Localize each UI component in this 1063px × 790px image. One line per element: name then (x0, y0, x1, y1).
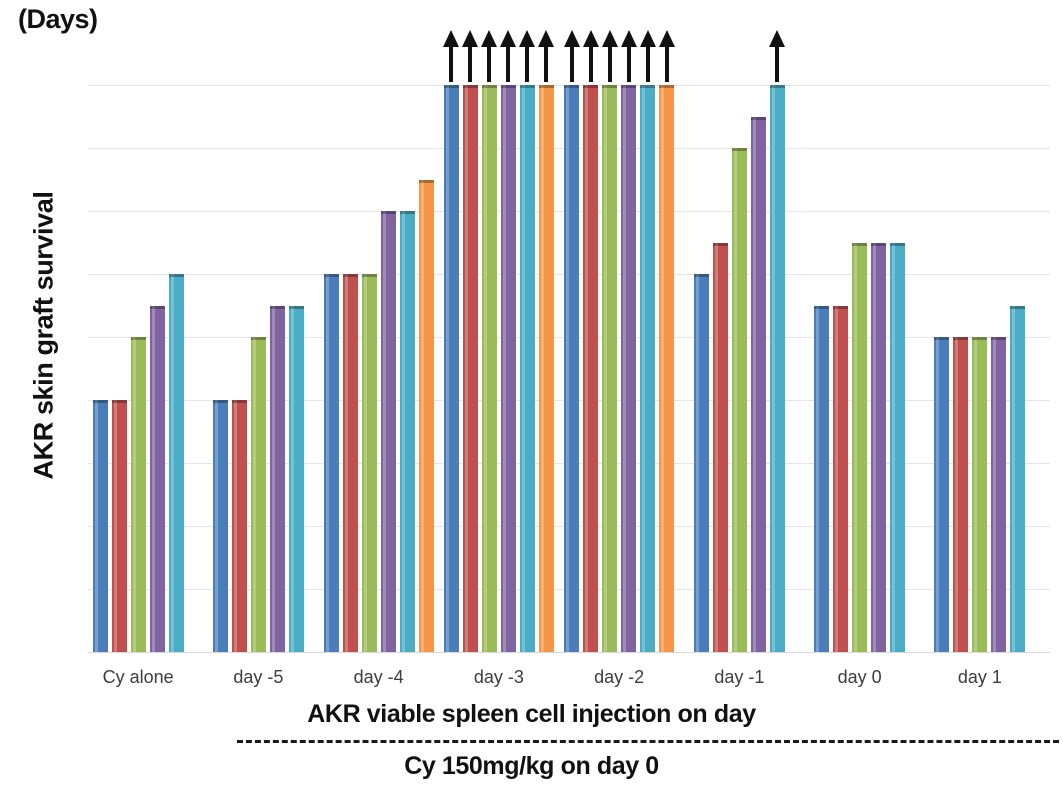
arrow-shaft (665, 42, 669, 82)
bar-chart-figure: (Days) AKR skin graft survival 024681012… (0, 0, 1063, 790)
gridline-0 (88, 652, 1050, 653)
bar-cap (463, 85, 478, 88)
bar-day-4-blue (324, 274, 339, 652)
bar-cap (419, 180, 434, 183)
censored-up-arrow-icon (640, 30, 655, 82)
bar-cap (713, 243, 728, 246)
bar-cap (150, 306, 165, 309)
bar-cap (251, 337, 266, 340)
bar-day-2-red (583, 85, 598, 652)
bar-cap (482, 85, 497, 88)
bar-day-4-cyan (400, 211, 415, 652)
arrow-head (481, 30, 497, 47)
bar-highlight (345, 274, 348, 652)
bar-highlight (623, 85, 626, 652)
bar-highlight (753, 117, 756, 653)
bar-highlight (215, 400, 218, 652)
bar-day-3-purple (501, 85, 516, 652)
bar-cap (444, 85, 459, 88)
bar-day1-purple (991, 337, 1006, 652)
bar-highlight (152, 306, 155, 653)
bar-highlight (974, 337, 977, 652)
bar-cap (232, 400, 247, 403)
bar-cap (169, 274, 184, 277)
censored-up-arrow-icon (444, 30, 459, 82)
bar-Cyalone-red (112, 400, 127, 652)
bar-day1-cyan (1010, 306, 1025, 653)
bar-cap (659, 85, 674, 88)
bar-highlight (642, 85, 645, 652)
bar-day-2-cyan (640, 85, 655, 652)
arrow-head (519, 30, 535, 47)
bar-highlight (326, 274, 329, 652)
bar-day-3-red (463, 85, 478, 652)
bar-highlight (383, 211, 386, 652)
bar-cap (93, 400, 108, 403)
bar-day-4-red (343, 274, 358, 652)
bar-day-3-green (482, 85, 497, 652)
bar-day1-green (972, 337, 987, 652)
bar-day-2-blue (564, 85, 579, 652)
bar-cap (324, 274, 339, 277)
censored-up-arrow-icon (501, 30, 516, 82)
x-tick-label-day--2: day -2 (594, 667, 644, 688)
bar-highlight (95, 400, 98, 652)
bar-highlight (484, 85, 487, 652)
arrow-shaft (449, 42, 453, 82)
bar-highlight (715, 243, 718, 653)
caption-cy-dose: Cy 150mg/kg on day 0 (0, 752, 1063, 781)
bar-day-1-green (732, 148, 747, 652)
bar-day0-cyan (890, 243, 905, 653)
arrow-head (769, 30, 785, 47)
bar-highlight (503, 85, 506, 652)
censored-up-arrow-icon (463, 30, 478, 82)
bar-cap (289, 306, 304, 309)
bar-highlight (835, 306, 838, 653)
bar-highlight (402, 211, 405, 652)
bar-highlight (696, 274, 699, 652)
bar-cap (833, 306, 848, 309)
bar-cap (972, 337, 987, 340)
bar-day-1-cyan (770, 85, 785, 652)
censored-up-arrow-icon (539, 30, 554, 82)
bar-highlight (446, 85, 449, 652)
arrow-shaft (487, 42, 491, 82)
bar-highlight (421, 180, 424, 653)
bar-day1-red (953, 337, 968, 652)
arrow-shaft (468, 42, 472, 82)
x-tick-label-day--5: day -5 (233, 667, 283, 688)
bar-day-3-orange (539, 85, 554, 652)
bar-day0-purple (871, 243, 886, 653)
bar-highlight (171, 274, 174, 652)
bar-highlight (892, 243, 895, 653)
bar-cap (770, 85, 785, 88)
arrow-head (583, 30, 599, 47)
arrow-head (564, 30, 580, 47)
bar-cap (520, 85, 535, 88)
arrow-shaft (544, 42, 548, 82)
bar-highlight (1012, 306, 1015, 653)
bar-highlight (133, 337, 136, 652)
bar-highlight (291, 306, 294, 653)
bar-day-4-green (362, 274, 377, 652)
arrow-head (500, 30, 516, 47)
bar-cap (934, 337, 949, 340)
x-tick-label-day--1: day -1 (714, 667, 764, 688)
bar-cap (343, 274, 358, 277)
bar-day-1-purple (751, 117, 766, 653)
bar-highlight (585, 85, 588, 652)
bar-highlight (661, 85, 664, 652)
bar-cap (732, 148, 747, 151)
x-tick-label-day-1: day 1 (958, 667, 1002, 688)
bar-day-2-orange (659, 85, 674, 652)
dashed-separator-rule (237, 740, 1059, 743)
bar-day-5-cyan (289, 306, 304, 653)
bar-day1-blue (934, 337, 949, 652)
bar-day-3-cyan (520, 85, 535, 652)
bar-day0-blue (814, 306, 829, 653)
bar-cap (583, 85, 598, 88)
bar-Cyalone-purple (150, 306, 165, 653)
bar-cap (751, 117, 766, 120)
bar-cap (991, 337, 1006, 340)
bar-day-5-green (251, 337, 266, 652)
bar-day-4-purple (381, 211, 396, 652)
arrow-shaft (646, 42, 650, 82)
bar-highlight (566, 85, 569, 652)
bar-day0-green (852, 243, 867, 653)
bar-Cyalone-blue (93, 400, 108, 652)
bar-cap (131, 337, 146, 340)
x-tick-label-day-0: day 0 (838, 667, 882, 688)
bar-highlight (955, 337, 958, 652)
bar-cap (953, 337, 968, 340)
censored-up-arrow-icon (621, 30, 636, 82)
bar-highlight (272, 306, 275, 653)
bar-cap (400, 211, 415, 214)
bar-day-1-red (713, 243, 728, 653)
arrow-shaft (627, 42, 631, 82)
censored-up-arrow-icon (564, 30, 579, 82)
bar-highlight (816, 306, 819, 653)
y-axis-title: AKR skin graft survival (29, 126, 60, 546)
censored-up-arrow-icon (482, 30, 497, 82)
bar-highlight (522, 85, 525, 652)
bar-cap (852, 243, 867, 246)
bar-day-5-red (232, 400, 247, 652)
bar-day0-red (833, 306, 848, 653)
x-tick-label-day--4: day -4 (354, 667, 404, 688)
arrow-shaft (589, 42, 593, 82)
bar-highlight (772, 85, 775, 652)
arrow-head (443, 30, 459, 47)
bar-cap (362, 274, 377, 277)
arrow-head (538, 30, 554, 47)
x-tick-label-Cy-alone: Cy alone (103, 667, 174, 688)
bar-day-5-blue (213, 400, 228, 652)
bar-day-2-purple (621, 85, 636, 652)
bar-day-2-green (602, 85, 617, 652)
arrow-shaft (775, 42, 779, 82)
bar-day-1-blue (694, 274, 709, 652)
bar-cap (213, 400, 228, 403)
arrow-head (640, 30, 656, 47)
bar-highlight (936, 337, 939, 652)
bar-cap (814, 306, 829, 309)
bar-highlight (993, 337, 996, 652)
plot-area (88, 85, 1050, 652)
bar-Cyalone-green (131, 337, 146, 652)
arrow-head (602, 30, 618, 47)
arrow-head (659, 30, 675, 47)
arrow-head (462, 30, 478, 47)
censored-up-arrow-icon (520, 30, 535, 82)
bar-cap (564, 85, 579, 88)
bar-day-5-purple (270, 306, 285, 653)
bar-highlight (873, 243, 876, 653)
bar-cap (1010, 306, 1025, 309)
bar-highlight (364, 274, 367, 652)
y-axis-units-label: (Days) (18, 4, 98, 35)
bar-highlight (541, 85, 544, 652)
bar-day-3-blue (444, 85, 459, 652)
bar-cap (871, 243, 886, 246)
bar-highlight (734, 148, 737, 652)
bar-highlight (465, 85, 468, 652)
bar-cap (621, 85, 636, 88)
bar-cap (602, 85, 617, 88)
bar-day-4-orange (419, 180, 434, 653)
bar-cap (694, 274, 709, 277)
bar-highlight (253, 337, 256, 652)
arrow-shaft (570, 42, 574, 82)
arrow-shaft (525, 42, 529, 82)
bar-cap (112, 400, 127, 403)
bar-cap (270, 306, 285, 309)
censored-up-arrow-icon (659, 30, 674, 82)
bar-Cyalone-cyan (169, 274, 184, 652)
bar-cap (501, 85, 516, 88)
censored-up-arrow-icon (770, 30, 785, 82)
arrow-shaft (506, 42, 510, 82)
bar-cap (890, 243, 905, 246)
bar-highlight (114, 400, 117, 652)
bar-cap (381, 211, 396, 214)
bar-highlight (854, 243, 857, 653)
x-tick-label-day--3: day -3 (474, 667, 524, 688)
censored-up-arrow-icon (583, 30, 598, 82)
arrow-shaft (608, 42, 612, 82)
bar-cap (539, 85, 554, 88)
bar-highlight (234, 400, 237, 652)
censored-up-arrow-icon (602, 30, 617, 82)
bar-cap (640, 85, 655, 88)
arrow-head (621, 30, 637, 47)
caption-spleen-cell-injection: AKR viable spleen cell injection on day (0, 700, 1063, 729)
bar-highlight (604, 85, 607, 652)
